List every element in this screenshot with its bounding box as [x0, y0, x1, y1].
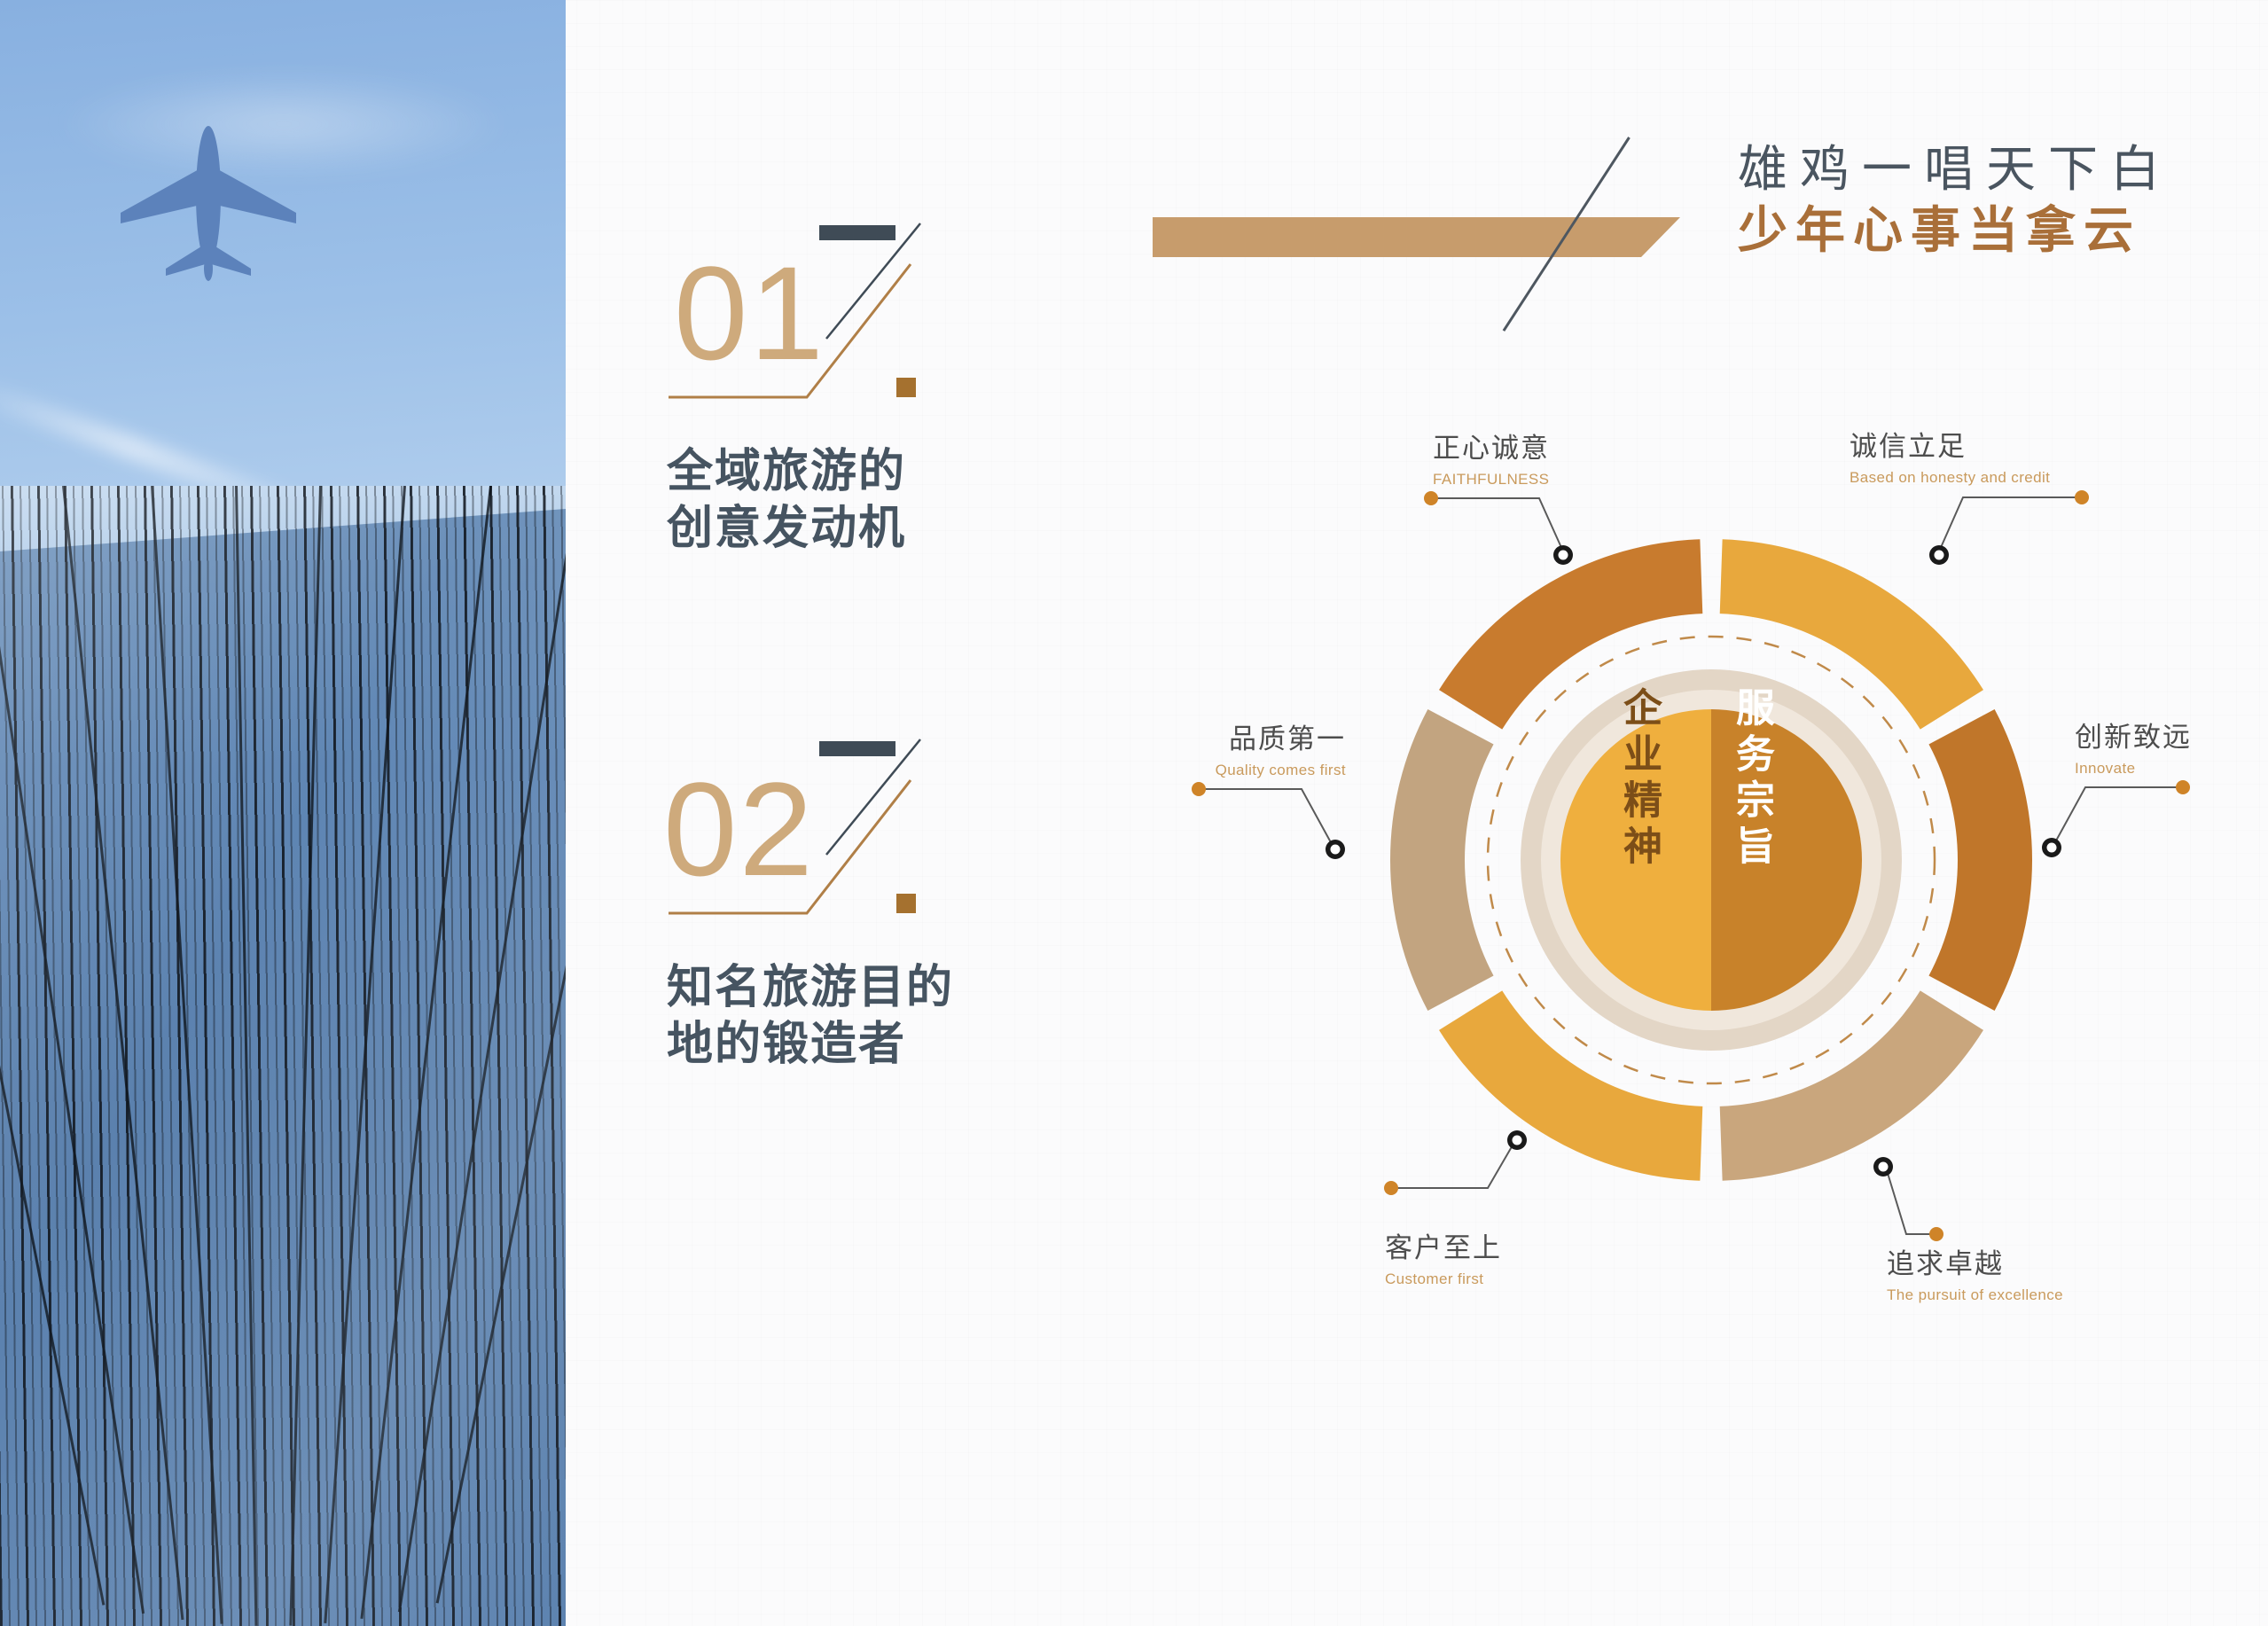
callout-faithfulness-cn: 正心诚意 [1433, 426, 1550, 465]
section-block-01: 01 全域旅游的 创意发动机 [645, 204, 1018, 452]
donut-svg [1299, 448, 2123, 1272]
section-02-decoration [645, 720, 947, 942]
airplane-icon [115, 111, 301, 288]
callout-faithfulness-en: FAITHFULNESS [1433, 471, 1550, 489]
callout-innovate: 创新致远 Innovate [2075, 715, 2192, 778]
header-banner-bar [1153, 217, 1680, 257]
culture-donut-chart: 企业精神 服务宗旨 [1299, 448, 2123, 1272]
callout-honesty: 诚信立足 Based on honesty and credit [1850, 424, 2050, 487]
callout-honesty-en: Based on honesty and credit [1850, 469, 2050, 487]
donut-segment-客户至上[interactable] [1390, 709, 1494, 1011]
skyscraper-photo [0, 486, 566, 1626]
glass-reflection-sheen [0, 486, 566, 1626]
section-01-headline-line1: 全域旅游的 [667, 443, 906, 502]
callout-customer-first-cn: 客户至上 [1385, 1225, 1502, 1265]
callout-innovate-cn: 创新致远 [2075, 715, 2192, 754]
callout-customer-first-en: Customer first [1385, 1270, 1502, 1288]
donut-segment-诚信立足[interactable] [1928, 709, 2032, 1011]
section-01-decoration [645, 204, 947, 426]
callout-customer-first: 客户至上 Customer first [1385, 1225, 1502, 1288]
header-title-line1: 雄鸡一唱天下白 [1738, 142, 2172, 197]
section-01-headline-line2: 创意发动机 [667, 500, 906, 559]
left-photo-panel [0, 0, 566, 1626]
callout-innovate-en: Innovate [2075, 760, 2192, 778]
section-02-headline-line2: 地的锻造者 [667, 1016, 906, 1075]
callout-excellence: 追求卓越 The pursuit of excellence [1887, 1241, 2063, 1304]
callout-quality-cn: 品质第一 [1064, 716, 1346, 756]
callout-excellence-cn: 追求卓越 [1887, 1241, 2063, 1281]
center-left-label: 企业精神 [1614, 687, 1667, 872]
section-02-headline-line1: 知名旅游目的 [667, 959, 954, 1018]
callout-honesty-cn: 诚信立足 [1850, 424, 2050, 464]
callout-faithfulness: 正心诚意 FAITHFULNESS [1433, 426, 1550, 489]
callout-excellence-en: The pursuit of excellence [1887, 1286, 2063, 1304]
section-block-02: 02 知名旅游目的 地的锻造者 [645, 720, 1018, 968]
callout-quality-en: Quality comes first [1064, 762, 1346, 779]
callout-quality: 品质第一 Quality comes first [1064, 716, 1346, 779]
header-title: 雄鸡一唱天下白 少年心事当拿云 [1738, 142, 2172, 259]
center-right-label: 服务宗旨 [1726, 687, 1779, 872]
header-title-line2: 少年心事当拿云 [1738, 202, 2172, 259]
